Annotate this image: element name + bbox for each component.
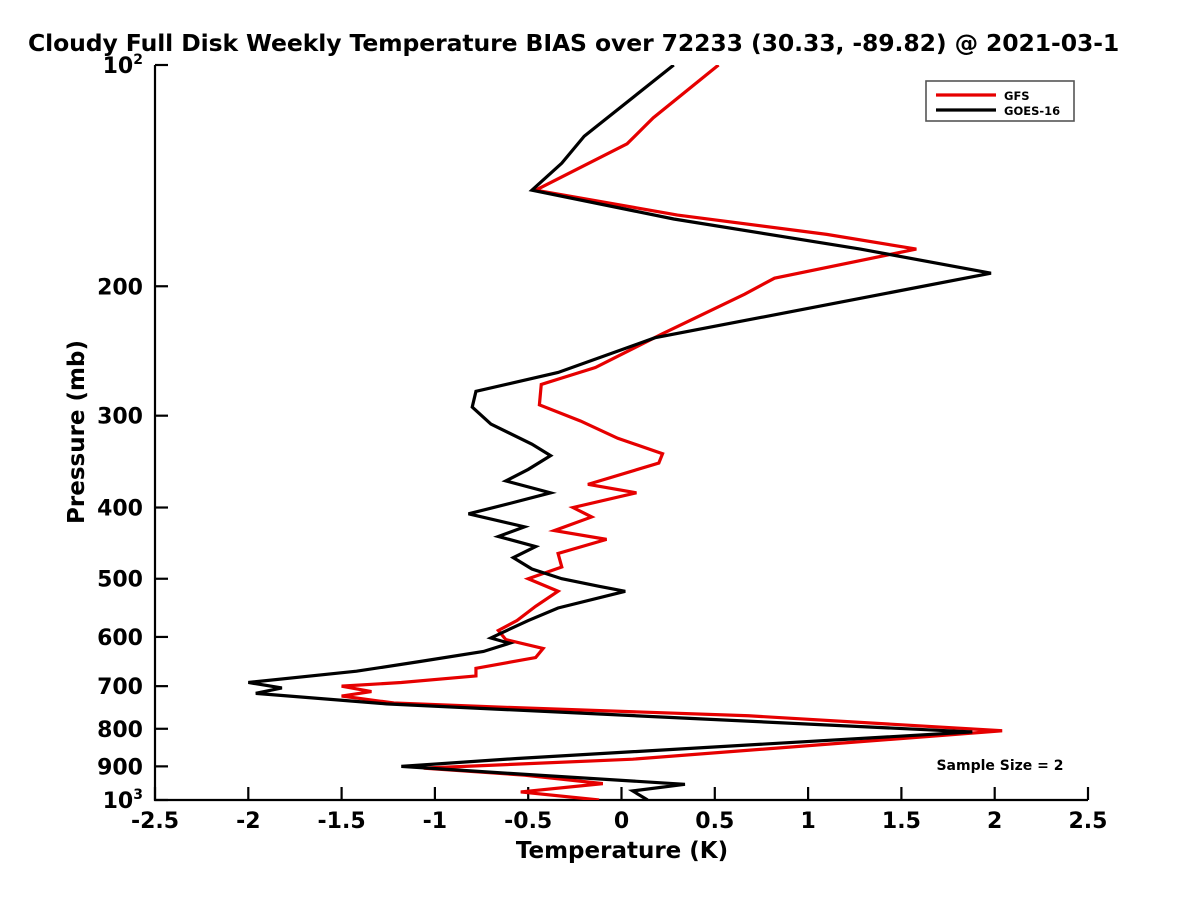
y-tick-label: 102	[103, 52, 143, 79]
legend: GFS GOES-16	[926, 81, 1074, 121]
temperature-bias-profile-chart: 102200300400500600700800900103 -2.5-2-1.…	[0, 0, 1200, 900]
chart-figure: Cloudy Full Disk Weekly Temperature BIAS…	[0, 0, 1200, 900]
y-tick-label: 200	[97, 275, 143, 300]
axes-frame	[155, 65, 1088, 800]
x-axis-ticks	[155, 787, 1088, 800]
series-lines	[248, 65, 1002, 800]
x-tick-label: -0.5	[504, 809, 552, 834]
y-tick-label: 700	[97, 675, 143, 700]
axis-spines	[155, 65, 1088, 800]
x-tick-label: 1.5	[882, 809, 921, 834]
x-tick-label: 0.5	[695, 809, 734, 834]
x-axis-title: Temperature (K)	[516, 838, 728, 864]
x-tick-label: 0	[614, 809, 629, 834]
x-tick-label: -1	[423, 809, 447, 834]
x-tick-label: 1	[800, 809, 815, 834]
y-axis-title: Pressure (mb)	[64, 340, 90, 524]
series-line-gfs	[342, 65, 1003, 800]
y-tick-label: 600	[97, 626, 143, 651]
x-tick-label: -1.5	[318, 809, 366, 834]
y-tick-label: 500	[97, 568, 143, 593]
y-axis-tick-labels: 102200300400500600700800900103	[97, 52, 143, 814]
x-tick-label: 2.5	[1069, 809, 1108, 834]
y-axis-ticks	[155, 65, 168, 800]
y-tick-label: 400	[97, 497, 143, 522]
x-axis-tick-labels: -2.5-2-1.5-1-0.500.511.522.5	[131, 809, 1108, 834]
x-tick-label: 2	[987, 809, 1002, 834]
x-tick-label: -2	[236, 809, 260, 834]
x-tick-label: -2.5	[131, 809, 179, 834]
legend-label-gfs: GFS	[1004, 89, 1030, 103]
y-tick-label: 800	[97, 718, 143, 743]
legend-label-goes16: GOES-16	[1004, 104, 1060, 118]
y-tick-label: 300	[97, 405, 143, 430]
sample-size-annotation: Sample Size = 2	[936, 758, 1063, 774]
y-tick-label: 900	[97, 755, 143, 780]
